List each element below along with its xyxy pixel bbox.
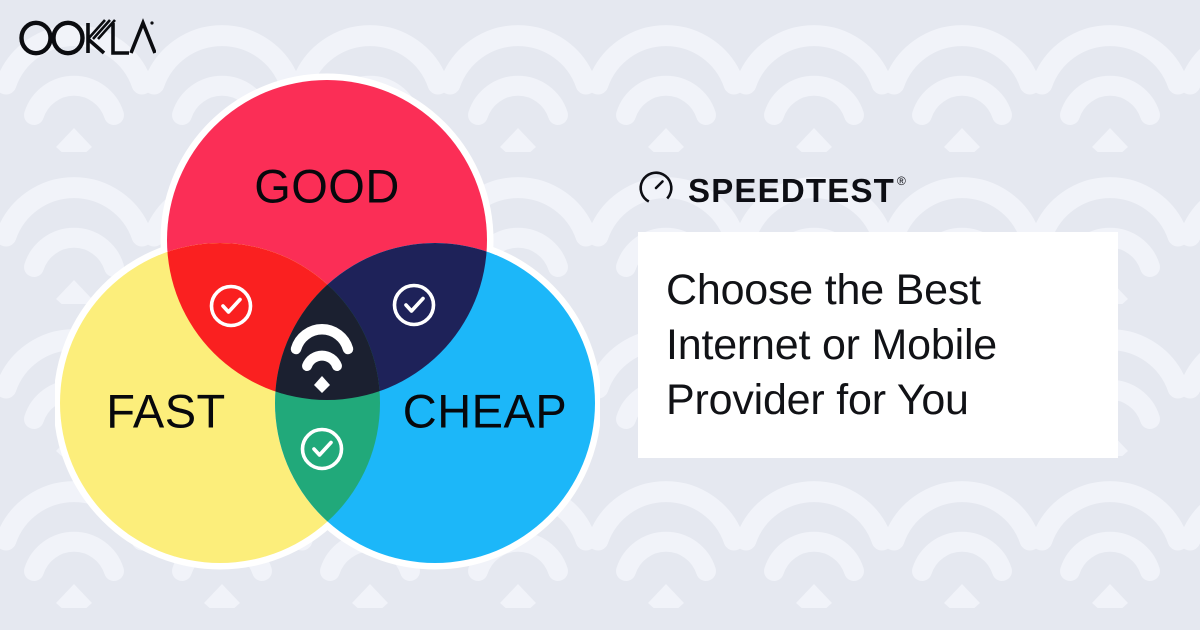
venn-label-good: GOOD — [254, 159, 400, 212]
headline-line-1: Choose the Best — [666, 263, 1090, 318]
ookla-logo — [16, 16, 156, 58]
headline-line-2: Internet or Mobile — [666, 318, 1090, 373]
venn-label-fast: FAST — [106, 384, 226, 437]
speedtest-logo: SPEEDTEST ® — [638, 168, 1118, 212]
venn-label-cheap: CHEAP — [403, 384, 567, 437]
speedtest-registered-mark: ® — [897, 175, 907, 187]
venn-diagram: GOOD FAST CHEAP — [55, 65, 600, 570]
headline-box: Choose the Best Internet or Mobile Provi… — [638, 232, 1118, 458]
right-panel: SPEEDTEST ® Choose the Best Internet or … — [638, 168, 1118, 458]
speedtest-wordmark: SPEEDTEST ® — [688, 174, 907, 207]
speedtest-wordmark-text: SPEEDTEST — [688, 174, 895, 207]
speedometer-icon — [638, 170, 674, 211]
ookla-registered-mark — [150, 21, 153, 24]
headline-line-3: Provider for You — [666, 373, 1090, 428]
